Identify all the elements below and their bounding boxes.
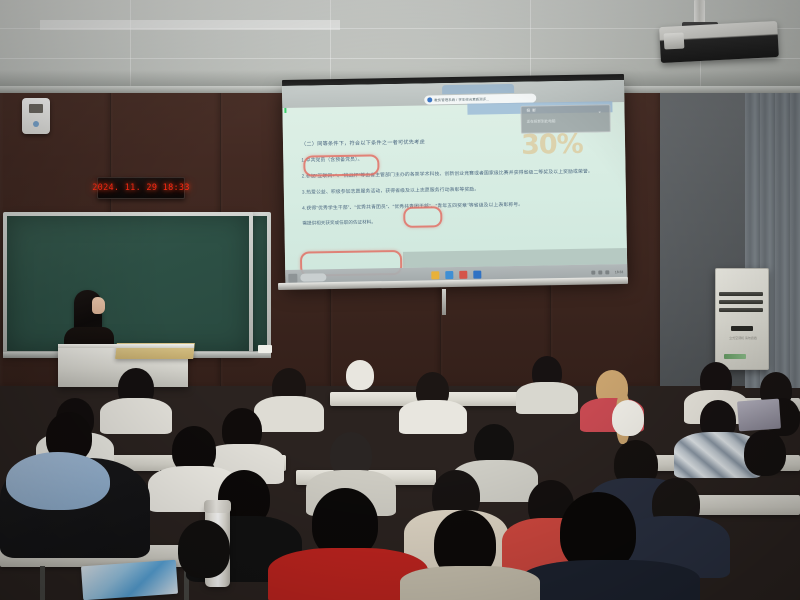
pdf-icon[interactable] [459, 271, 467, 279]
battery-icon[interactable] [605, 270, 609, 274]
url-text: 教务管理系统 / 学生综合素质测评... [434, 96, 489, 102]
ac-brand-logo [724, 354, 746, 359]
search-input[interactable] [300, 273, 326, 281]
volume-icon[interactable] [598, 270, 602, 274]
desk-leg-1 [40, 566, 45, 600]
student-head [346, 360, 374, 390]
student-torso [100, 398, 172, 434]
student-hood [6, 452, 110, 510]
led-clock-text: 2024. 11. 29 18:33 [92, 183, 190, 193]
slide-footnote: 需提供相关获奖或任职的佐证材料。 [302, 215, 612, 226]
browser-tab[interactable] [442, 84, 514, 94]
ac-vent-1-icon [719, 292, 763, 296]
close-icon[interactable]: × [598, 109, 600, 114]
student-torso-front [520, 560, 700, 600]
ac-vent-3-icon [719, 308, 763, 312]
slide-heading: （二）同等条件下，符合以下条件之一者可优先考虑 [301, 135, 611, 147]
slide-item-3: 3.热爱公益、积极参加志愿服务活动，获得省级及以上志愿服务行动表彰等奖励。 [302, 183, 612, 195]
start-button-icon[interactable] [288, 273, 297, 282]
folder-icon[interactable] [431, 271, 439, 279]
sensor-led-icon [33, 121, 39, 127]
student-torso-front [400, 566, 540, 600]
student-head [612, 400, 644, 436]
site-favicon-icon [427, 97, 432, 102]
led-wall-clock: 2024. 11. 29 18:33 [97, 177, 185, 199]
projection-screen[interactable]: 教务管理系统 / 学生综合素质测评... 投影 正在投影到此电脑 × 30% （… [282, 80, 627, 286]
word-icon[interactable] [473, 271, 481, 279]
slide-item-4: 4.获得“优秀学生干部”、“优秀共青团员”、“优秀共青团干部”、“青年五四奖章”… [302, 199, 612, 211]
presenter-face [92, 297, 105, 314]
cast-panel-subtitle: 正在投影到此电脑 [527, 119, 556, 125]
cast-panel-title: 投影 [526, 109, 538, 114]
taskbar-tray[interactable]: 18:33 [591, 270, 624, 275]
student-torso [254, 396, 324, 432]
slide-item-3-text: 热爱公益、积极参加志愿服务活动，获得省级及以上志愿服务行动表彰等奖励。 [306, 188, 479, 196]
projected-desktop[interactable]: 教务管理系统 / 学生综合素质测评... 投影 正在投影到此电脑 × 30% （… [282, 80, 627, 286]
browser-icon[interactable] [445, 271, 453, 279]
student-torso [399, 400, 467, 434]
projector-lens-icon [664, 32, 685, 49]
network-icon[interactable] [591, 271, 595, 275]
ac-label-text: 立式空调机 请勿遮挡 [726, 336, 760, 340]
classroom-photo: 2024. 11. 29 18:33 教务管理系统 / 学生综合素质测评... … [0, 0, 800, 600]
eraser-icon [258, 345, 272, 353]
student-head [744, 430, 786, 476]
student-torso [516, 382, 578, 414]
annotation-oval-item3 [403, 206, 442, 228]
annotation-oval-item1 [303, 154, 379, 176]
screen-drop-rod [442, 289, 446, 315]
sensor-window-icon [29, 104, 43, 113]
textbook [81, 560, 178, 600]
student-head-front [178, 520, 230, 578]
ac-display-icon [731, 326, 753, 331]
slide-content: （二）同等条件下，符合以下条件之一者可优先考虑 1.中共党员（含预备党员）。 2… [301, 135, 612, 226]
student-laptop [737, 399, 781, 432]
taskbar-clock: 18:33 [615, 270, 624, 274]
bottle-cap-icon [204, 500, 231, 513]
blackboard-panel-main [3, 212, 253, 355]
taskbar-app-icons[interactable] [431, 271, 481, 280]
ac-vent-2-icon [719, 300, 763, 304]
lectern-edge [58, 344, 194, 348]
